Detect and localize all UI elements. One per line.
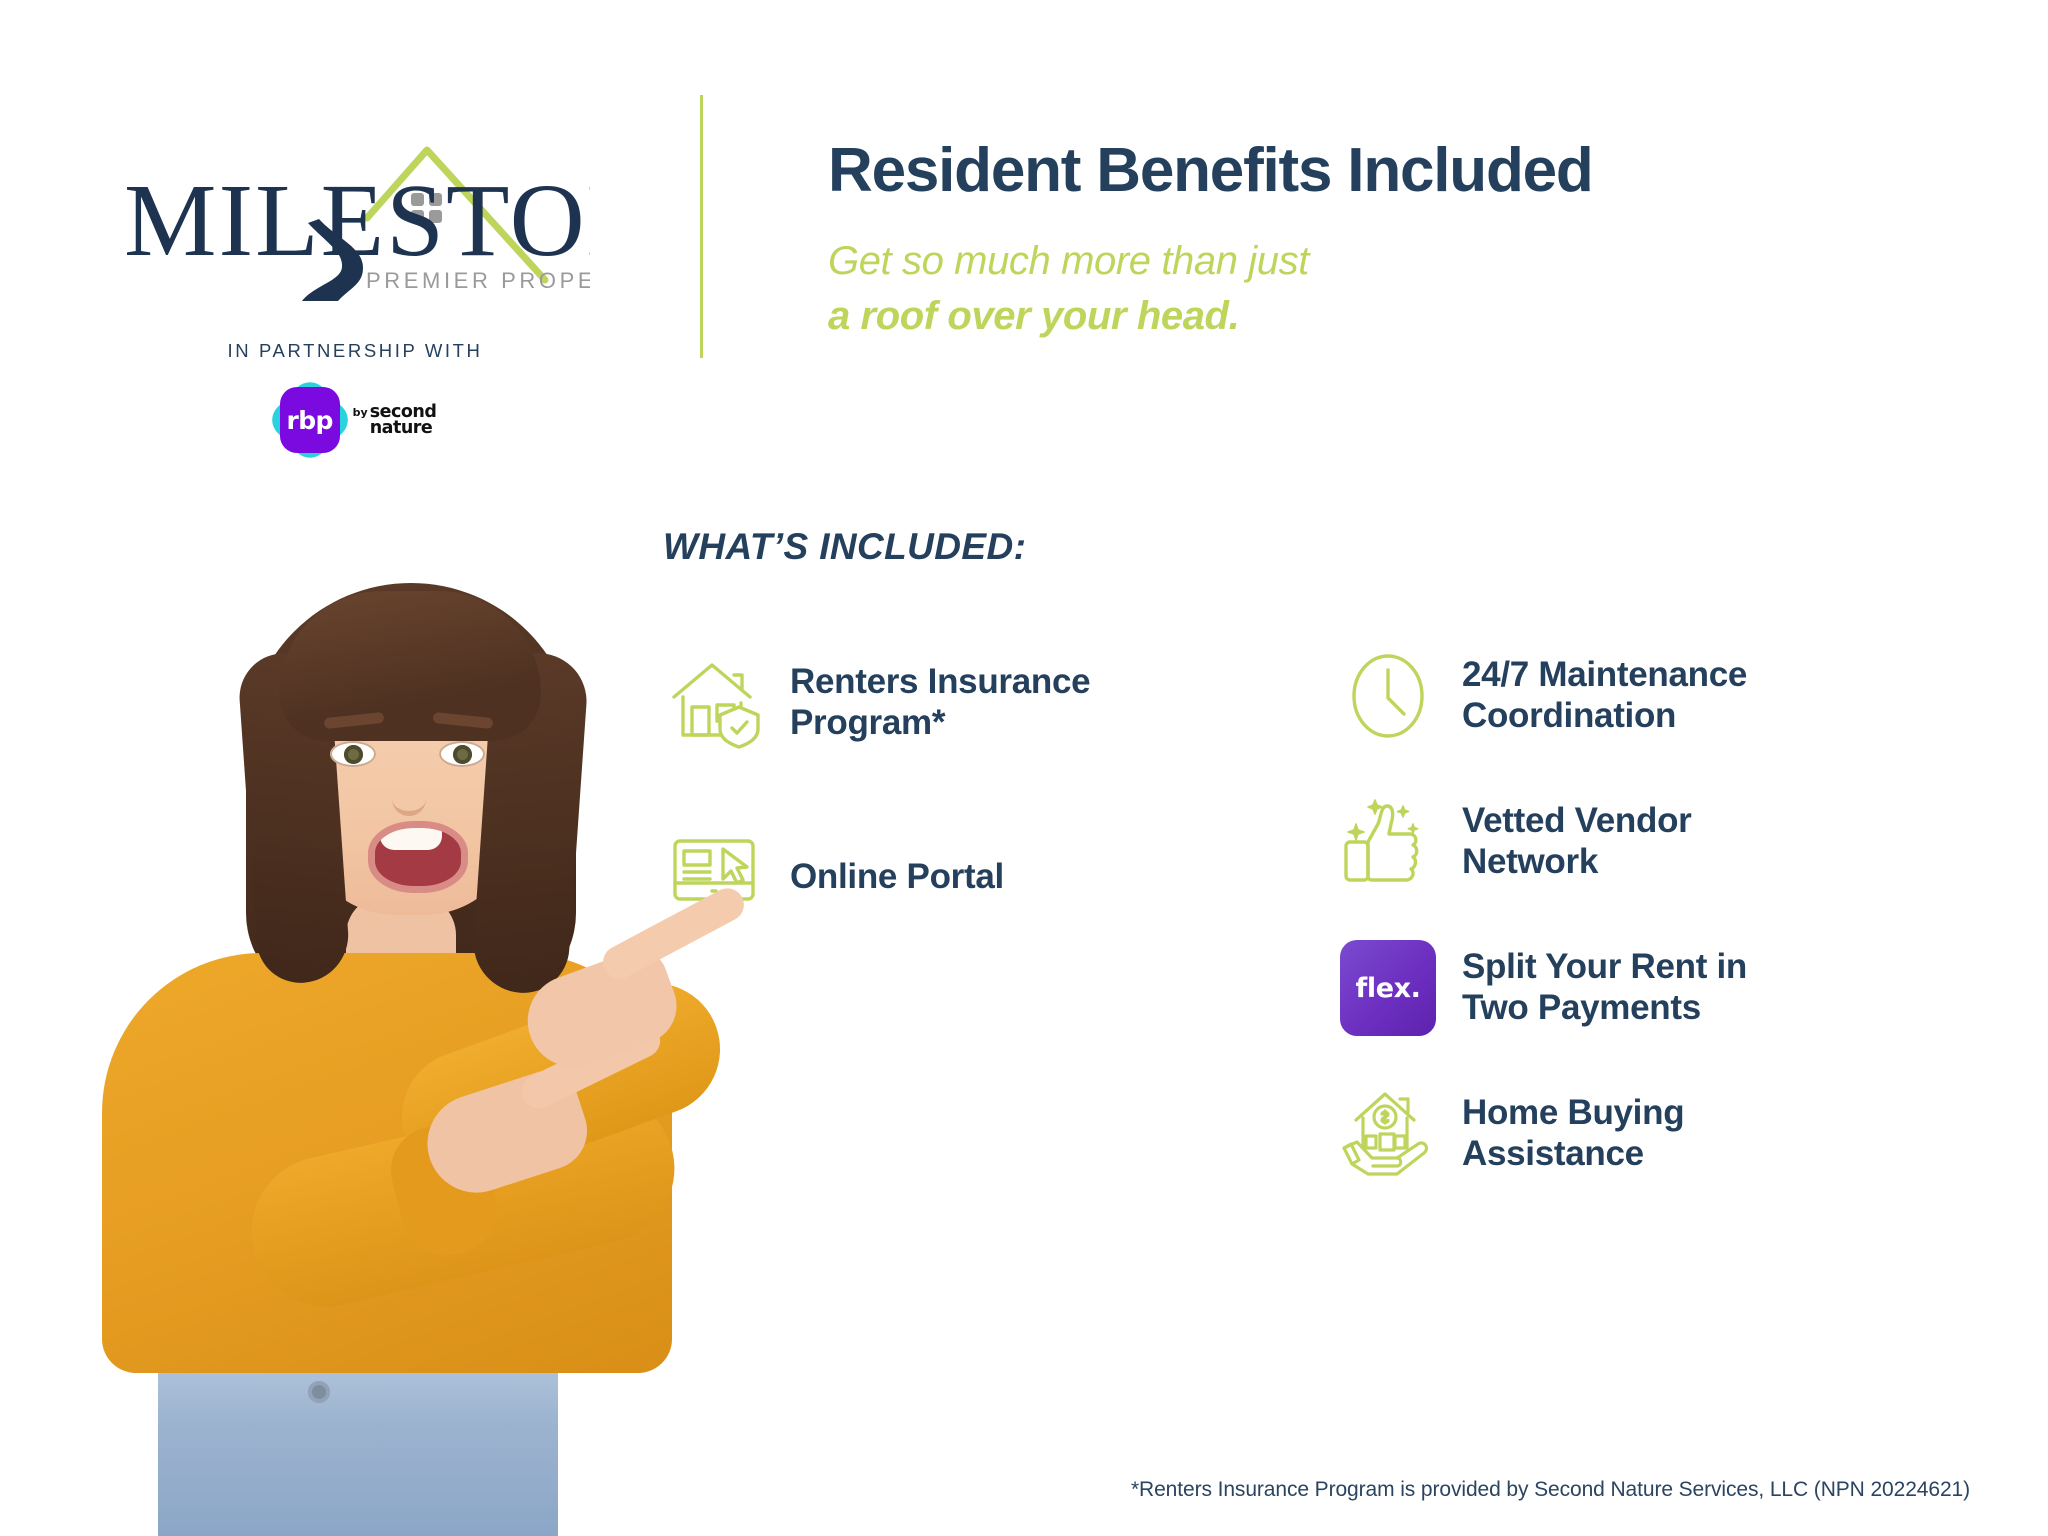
brand-logo-block: MILESTONE PREMIER PROPERTIES IN PARTNERS… (120, 105, 600, 435)
benefit-label-line1: Home Buying (1462, 1093, 1684, 1132)
page-title: Resident Benefits Included (828, 138, 1948, 203)
benefit-label-line1: Renters Insurance (790, 662, 1090, 701)
benefit-item-home-buying: Home Buying Assistance (1340, 1086, 1960, 1182)
milestone-logo: MILESTONE PREMIER PROPERTIES (120, 105, 590, 320)
second-nature-by: by (353, 407, 368, 418)
flex-badge-icon: flex. (1340, 940, 1436, 1036)
subheading-line-1: Get so much more than just (828, 237, 1948, 286)
header-vertical-divider (700, 95, 703, 358)
subheading-line-2: a roof over your head. (828, 292, 1948, 341)
figure-pointing-finger-upper (597, 883, 749, 985)
benefit-label-online-portal: Online Portal (790, 857, 1004, 898)
benefits-column-right: 24/7 Maintenance Coordination Vetted Ven… (1340, 648, 1960, 1232)
figure-teeth (380, 828, 442, 850)
benefit-label-line1: Online Portal (790, 857, 1004, 896)
second-nature-name: second nature (370, 404, 437, 436)
benefit-item-vetted-vendor: Vetted Vendor Network (1340, 794, 1960, 890)
benefit-label-line1: 24/7 Maintenance (1462, 655, 1747, 694)
excited-woman-pointing-photo (96, 565, 796, 1536)
benefit-item-maintenance: 24/7 Maintenance Coordination (1340, 648, 1960, 744)
subheading: Get so much more than just a roof over y… (828, 237, 1948, 341)
benefit-label-line1: Vetted Vendor (1462, 801, 1692, 840)
benefit-label-maintenance: 24/7 Maintenance Coordination (1462, 655, 1747, 736)
second-nature-line2: nature (370, 418, 433, 438)
header-text-block: Resident Benefits Included Get so much m… (828, 138, 1948, 341)
rbp-badge-icon: rbp (274, 384, 346, 456)
house-in-hand-icon (1340, 1086, 1436, 1182)
section-heading: WHAT’S INCLUDED: (663, 526, 1026, 568)
clock-icon (1340, 648, 1436, 744)
benefit-label-line2: Network (1462, 842, 1598, 881)
figure-pupil-right (453, 745, 472, 764)
figure-pupil-left (344, 745, 363, 764)
benefit-label-home-buying: Home Buying Assistance (1462, 1093, 1684, 1174)
figure-mouth (368, 821, 468, 893)
benefit-label-renters-insurance: Renters Insurance Program* (790, 662, 1090, 743)
benefit-label-line2: Coordination (1462, 696, 1676, 735)
benefit-label-split-rent: Split Your Rent in Two Payments (1462, 947, 1747, 1028)
benefit-label-line2: Assistance (1462, 1134, 1644, 1173)
footnote-disclaimer: *Renters Insurance Program is provided b… (1131, 1478, 1970, 1502)
benefit-label-line2: Two Payments (1462, 988, 1701, 1027)
flex-badge-label: flex. (1356, 973, 1421, 1004)
figure-hair-top (279, 591, 541, 741)
second-nature-wordmark: by second nature (353, 404, 437, 436)
svg-text:PREMIER PROPERTIES: PREMIER PROPERTIES (366, 268, 590, 293)
figure-nose (392, 771, 426, 816)
benefit-item-split-rent: flex. Split Your Rent in Two Payments (1340, 940, 1960, 1036)
benefit-label-vetted-vendor: Vetted Vendor Network (1462, 801, 1692, 882)
rbp-second-nature-lockup: rbp by second nature (120, 380, 590, 460)
rbp-badge-label: rbp (274, 384, 346, 456)
thumbs-up-sparkle-icon (1340, 794, 1436, 890)
benefit-label-line1: Split Your Rent in (1462, 947, 1747, 986)
partnership-label: IN PARTNERSHIP WITH (120, 340, 590, 362)
benefit-label-line2: Program* (790, 703, 945, 742)
